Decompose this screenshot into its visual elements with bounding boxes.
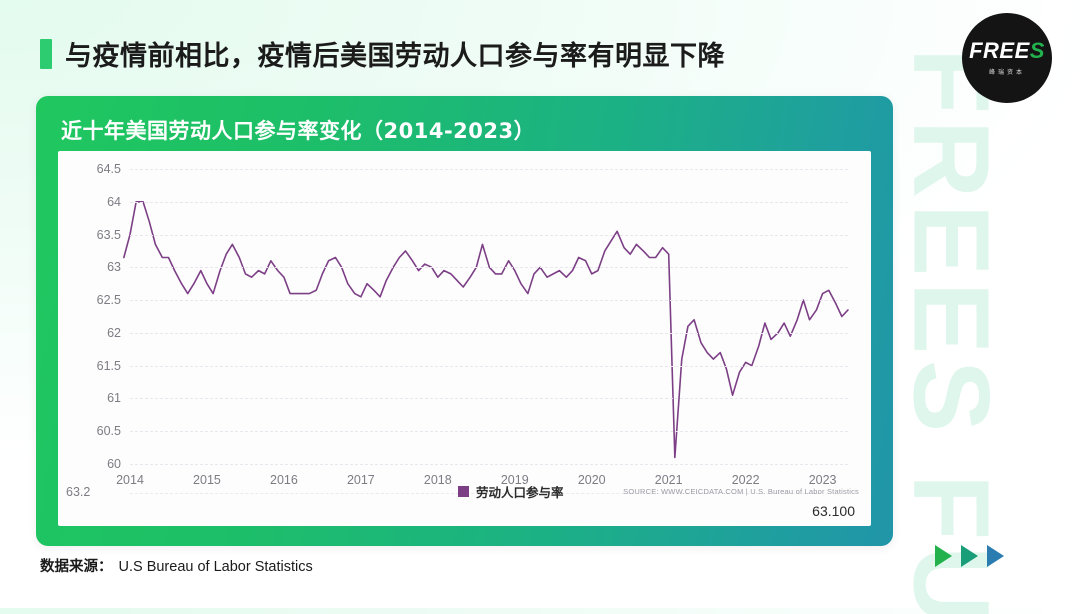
headline-text: 与疫情前相比，疫情后美国劳动人口参与率有明显下降 <box>65 34 725 73</box>
triangle-icon <box>961 545 978 567</box>
chart-y-tick-label: 64 <box>107 195 121 209</box>
chart-gridline <box>130 431 848 432</box>
logo-wordmark: FREES <box>969 40 1045 62</box>
chart-gridline <box>130 267 848 268</box>
chart-stray-ytick-label: 63.2 <box>66 485 90 499</box>
chart-plot-area: 64.56463.56362.56261.56160.5602014201520… <box>130 169 848 464</box>
logo-wordmark-accent: S <box>1030 38 1045 63</box>
chart-card-title: 近十年美国劳动人口参与率变化（2014-2023） <box>61 115 535 145</box>
chart-y-tick-label: 63.5 <box>97 228 121 242</box>
data-source-footer: 数据来源： U.S Bureau of Labor Statistics <box>40 555 313 576</box>
chart-gridline <box>130 235 848 236</box>
chart-gridline <box>130 464 848 465</box>
data-source-label: 数据来源： <box>40 555 113 576</box>
logo-wordmark-main: FREE <box>969 38 1030 63</box>
chart-source-note: SOURCE: WWW.CEICDATA.COM | U.S. Bureau o… <box>623 487 859 496</box>
chart-gridline <box>130 398 848 399</box>
frees-logo: FREES 峰瑞资本 <box>962 13 1052 103</box>
chart-y-tick-label: 60.5 <box>97 424 121 438</box>
legend-label: 劳动人口参与率 <box>476 482 564 501</box>
legend-swatch-icon <box>458 486 469 497</box>
chart-y-tick-label: 64.5 <box>97 162 121 176</box>
chart-gridline <box>130 169 848 170</box>
watermark-text: FREES FUND <box>902 48 1001 614</box>
data-source-value: U.S Bureau of Labor Statistics <box>119 559 313 575</box>
triangle-icon <box>987 545 1004 567</box>
chart-line-path <box>124 202 848 458</box>
slide-headline: 与疫情前相比，疫情后美国劳动人口参与率有明显下降 <box>40 34 725 73</box>
chart-y-tick-label: 61.5 <box>97 359 121 373</box>
chart-series-line <box>130 169 848 464</box>
chart-y-tick-label: 62 <box>107 326 121 340</box>
chart-y-tick-label: 62.5 <box>97 293 121 307</box>
chart-gridline <box>130 202 848 203</box>
chart-y-tick-label: 61 <box>107 391 121 405</box>
chart-card: 近十年美国劳动人口参与率变化（2014-2023） 64.56463.56362… <box>36 96 893 546</box>
logo-subtitle: 峰瑞资本 <box>989 67 1025 76</box>
chart-gridline <box>130 333 848 334</box>
triangle-icon <box>935 545 952 567</box>
decorative-arrows <box>935 545 1004 567</box>
headline-accent-bar <box>40 39 52 69</box>
chart-panel: 64.56463.56362.56261.56160.5602014201520… <box>58 151 871 526</box>
slide-root: FREES FUND FREES 峰瑞资本 与疫情前相比，疫情后美国劳动人口参与… <box>0 0 1080 608</box>
chart-y-tick-label: 63 <box>107 260 121 274</box>
chart-gridline <box>130 300 848 301</box>
chart-latest-value: 63.100 <box>812 503 855 519</box>
chart-y-tick-label: 60 <box>107 457 121 471</box>
chart-legend: 劳动人口参与率 <box>458 482 564 501</box>
chart-gridline <box>130 366 848 367</box>
